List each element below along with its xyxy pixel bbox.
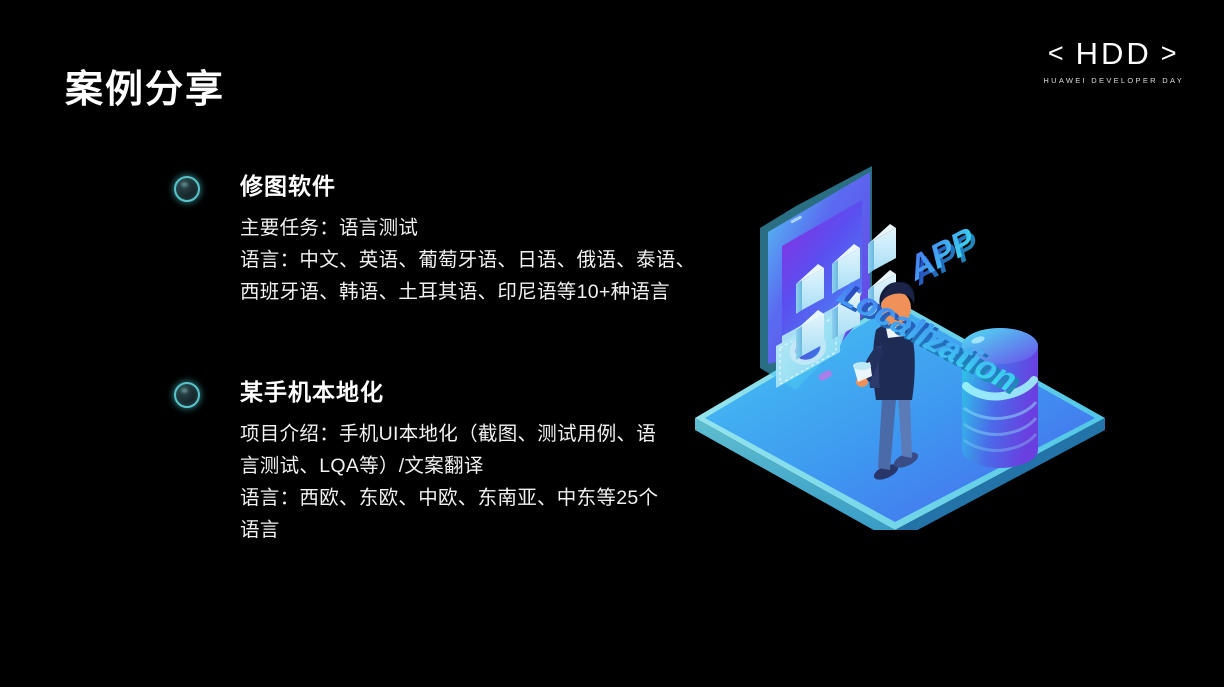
bullet-circle-icon xyxy=(174,382,200,408)
case-block-1-line-2: 语言：中文、英语、葡萄牙语、日语、俄语、泰语、 xyxy=(240,244,695,276)
page-title: 案例分享 xyxy=(65,70,225,112)
case-block-1-line-1: 主要任务：语言测试 xyxy=(240,212,695,244)
left-angle-bracket-icon: < xyxy=(1048,40,1067,67)
app-localization-illustration: APP APP Localization Localization xyxy=(690,150,1110,530)
case-block-1-body: 修图软件 主要任务：语言测试 语言：中文、英语、葡萄牙语、日语、俄语、泰语、 西… xyxy=(240,172,695,308)
slide-root: < HDD > HUAWEI DEVELOPER DAY 案例分享 修图软件 主… xyxy=(0,0,1224,687)
case-block-2: 某手机本地化 项目介绍：手机UI本地化（截图、测试用例、语 言测试、LQA等）/… xyxy=(174,378,658,546)
right-angle-bracket-icon: > xyxy=(1161,40,1180,67)
case-block-2-line-4: 语言 xyxy=(240,514,658,546)
bullet-circle-icon xyxy=(174,176,200,202)
hdd-logo-subtitle: HUAWEI DEVELOPER DAY xyxy=(1043,76,1184,85)
case-block-2-body: 某手机本地化 项目介绍：手机UI本地化（截图、测试用例、语 言测试、LQA等）/… xyxy=(240,378,658,546)
case-block-2-line-2: 言测试、LQA等）/文案翻译 xyxy=(240,450,658,482)
hdd-logo-wordmark: < HDD > xyxy=(1043,38,1184,69)
case-block-2-line-3: 语言：西欧、东欧、中欧、东南亚、中东等25个 xyxy=(240,482,658,514)
case-block-1-heading: 修图软件 xyxy=(240,172,695,201)
case-block-2-heading: 某手机本地化 xyxy=(240,378,658,407)
case-block-1: 修图软件 主要任务：语言测试 语言：中文、英语、葡萄牙语、日语、俄语、泰语、 西… xyxy=(174,172,695,308)
case-block-2-line-1: 项目介绍：手机UI本地化（截图、测试用例、语 xyxy=(240,418,658,450)
case-block-1-line-3: 西班牙语、韩语、土耳其语、印尼语等10+种语言 xyxy=(240,276,695,308)
text-app: APP APP xyxy=(907,219,982,294)
hdd-logo-text: HDD xyxy=(1076,38,1152,69)
hdd-logo: < HDD > HUAWEI DEVELOPER DAY xyxy=(1043,38,1184,85)
